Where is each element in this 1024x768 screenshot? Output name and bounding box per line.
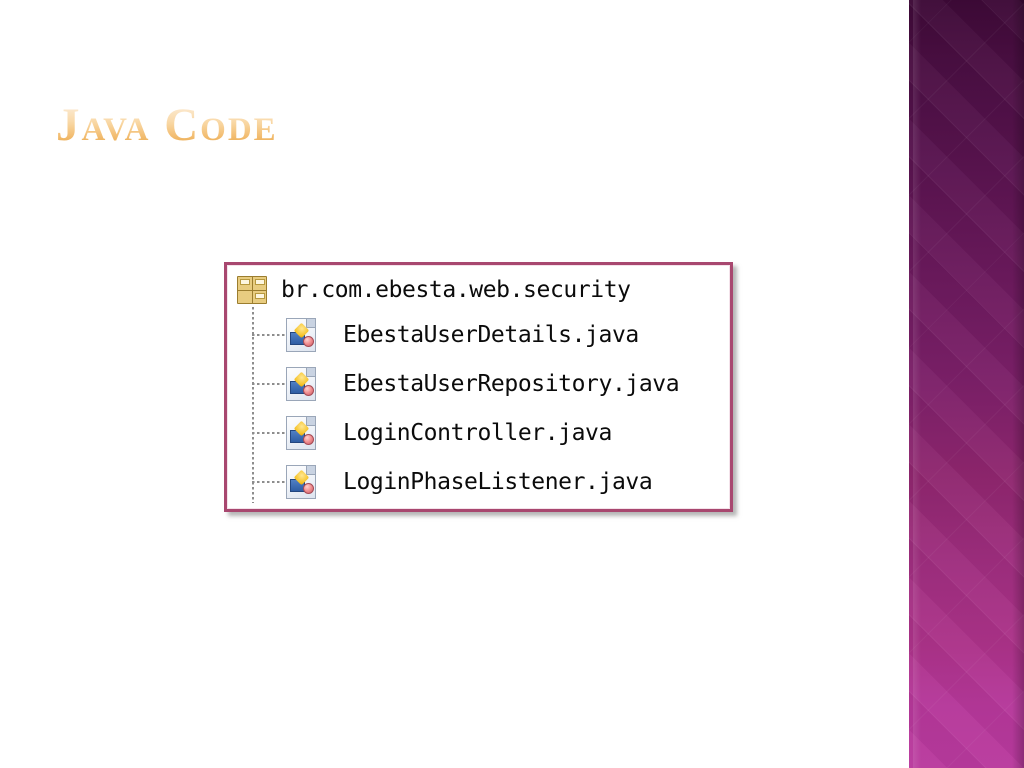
java-file-icon (286, 416, 316, 450)
file-label: LoginPhaseListener.java (343, 469, 652, 495)
java-file-icon (286, 367, 316, 401)
sidebar-diamond-pattern (909, 0, 1024, 768)
tree-row-file[interactable]: LoginController.java (252, 411, 612, 455)
tree-branch-line (252, 432, 286, 434)
sidebar-right-shadow (1012, 0, 1024, 768)
package-label: br.com.ebesta.web.security (281, 277, 631, 303)
java-file-icon (286, 465, 316, 499)
tree-branch-line (252, 334, 286, 336)
slide-canvas: Java Code br.com.ebesta.web.security (0, 0, 1024, 768)
file-label: EbestaUserRepository.java (343, 371, 679, 397)
sidebar-left-highlight (913, 0, 921, 768)
tree-row-file[interactable]: EbestaUserDetails.java (252, 313, 639, 357)
decorative-sidebar (909, 0, 1024, 768)
tree-branch-line (252, 383, 286, 385)
java-file-icon (286, 318, 316, 352)
package-icon (237, 276, 267, 304)
tree-row-package[interactable]: br.com.ebesta.web.security (237, 273, 631, 307)
tree-branch-line (252, 481, 286, 483)
page-title: Java Code (56, 101, 278, 150)
file-label: LoginController.java (343, 420, 612, 446)
tree-row-file[interactable]: EbestaUserRepository.java (252, 362, 679, 406)
file-label: EbestaUserDetails.java (343, 322, 639, 348)
tree-row-file[interactable]: LoginPhaseListener.java (252, 460, 652, 504)
project-tree-panel: br.com.ebesta.web.security EbestaUserDet… (224, 262, 733, 512)
tree-body: br.com.ebesta.web.security EbestaUserDet… (227, 265, 730, 509)
